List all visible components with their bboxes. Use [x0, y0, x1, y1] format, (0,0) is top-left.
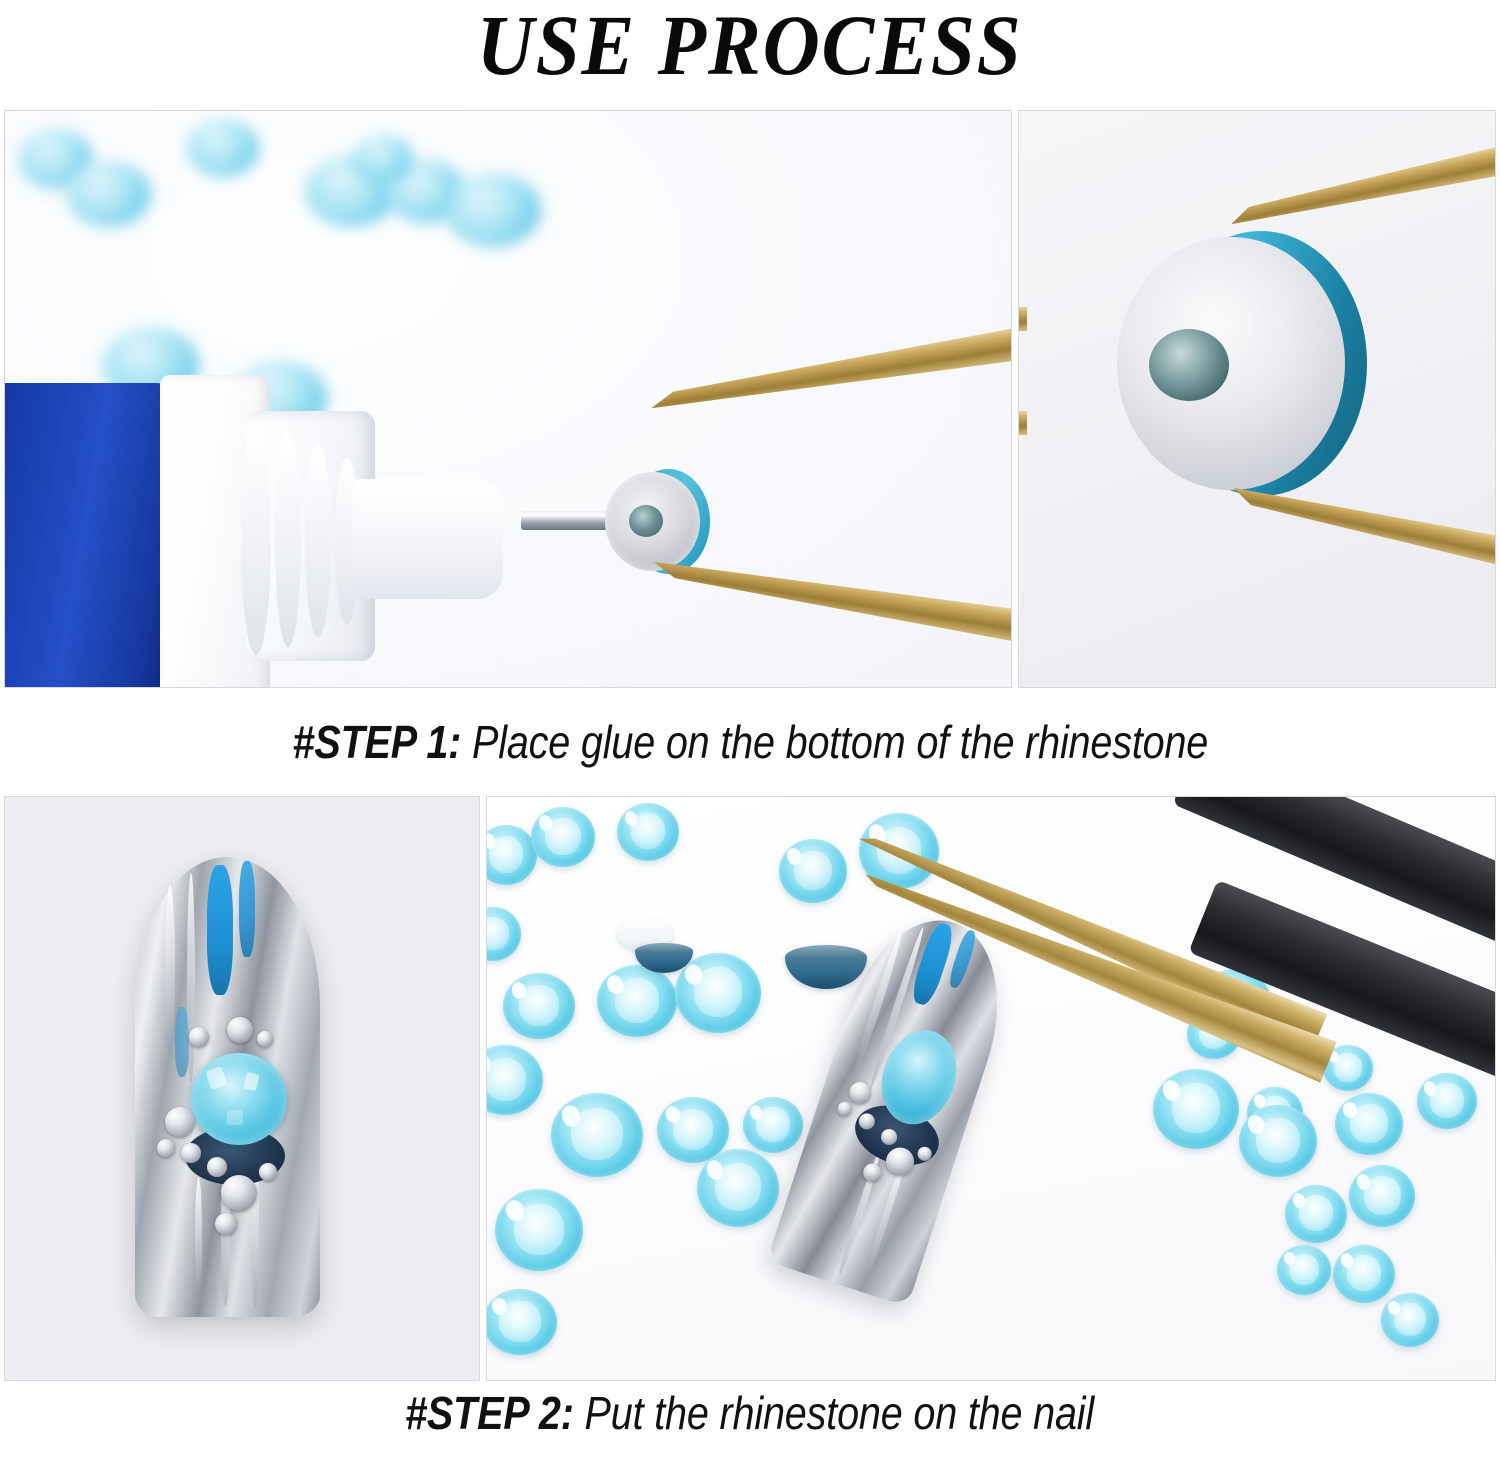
rhinestone [617, 803, 679, 861]
silver-bead [227, 1017, 253, 1043]
rhinestone [495, 1189, 583, 1271]
step-2-caption: #STEP 2: Put the rhinestone on the nail [406, 1390, 1095, 1436]
glue-application-photo [4, 110, 1012, 688]
placing-rhinestone-photo [486, 796, 1496, 1381]
glue-tube [4, 383, 505, 688]
glue-tube-thread [305, 443, 331, 637]
gem-facet [205, 1065, 228, 1090]
rhinestone [486, 1045, 543, 1115]
step-2-caption-wrap: #STEP 2: Put the rhinestone on the nail [0, 1381, 1500, 1445]
rhinestone [1285, 1185, 1347, 1243]
rhinestone-in-tweezers [605, 469, 710, 574]
silver-bead [189, 1027, 209, 1047]
bokeh-rhinestone [67, 161, 151, 227]
step-1-text: Place glue on the bottom of the rhinesto… [461, 716, 1208, 768]
silver-bead [157, 1139, 175, 1157]
bokeh-rhinestone [353, 135, 413, 183]
rhinestone [503, 973, 575, 1039]
rhinestone [1277, 1245, 1331, 1295]
rhinestone [486, 1289, 557, 1355]
step-2-text: Put the rhinestone on the nail [574, 1387, 1094, 1439]
step-2-block: #STEP 2: Put the rhinestone on the nail [0, 796, 1500, 1445]
step-1-block: #STEP 1: Place glue on the bottom of the… [0, 110, 1500, 796]
gem-facet [227, 1110, 242, 1125]
nail-blue-streak [947, 928, 979, 989]
rhinestone [1239, 1105, 1317, 1177]
silver-bead [207, 1157, 227, 1177]
step-2-panel-row [0, 796, 1500, 1381]
step-1-label: #STEP 1: [292, 716, 461, 768]
rhinestone [1349, 1165, 1415, 1227]
silver-bead [181, 1143, 201, 1163]
bokeh-rhinestone [187, 119, 259, 177]
rhinestone [743, 1097, 803, 1153]
press-on-nail [135, 857, 320, 1317]
glue-tube-thread [241, 423, 271, 655]
rhinestone [697, 1149, 779, 1227]
rhinestone [597, 965, 677, 1037]
glue-tube-thread [275, 431, 301, 647]
rhinestone [1381, 1293, 1439, 1347]
title-bar: USE PROCESS [0, 0, 1500, 110]
bokeh-rhinestone [445, 173, 541, 247]
nail-center-rhinestone [191, 1053, 287, 1145]
finished-nail-photo [4, 796, 480, 1381]
silver-bead [215, 1213, 237, 1235]
nail-highlight-streak [187, 873, 195, 1083]
step-1-caption: #STEP 1: Place glue on the bottom of the… [292, 719, 1208, 765]
nail-blue-streak [207, 865, 233, 995]
rhinestone [486, 907, 521, 961]
step-1-caption-wrap: #STEP 1: Place glue on the bottom of the… [0, 688, 1500, 796]
rhinestone [1333, 1245, 1395, 1303]
gem-facet [243, 1072, 260, 1091]
tweezer-upper-arm [1227, 141, 1496, 233]
silver-bead [257, 1031, 273, 1047]
rhinestone [1153, 1069, 1239, 1149]
glue-drop [1149, 329, 1229, 401]
rhinestone [779, 839, 847, 903]
rhinestone [551, 1093, 643, 1177]
glue-tube-body [4, 383, 175, 688]
rhinestone-side-view [785, 945, 867, 989]
rhinestone [1335, 1093, 1403, 1155]
rhinestone [675, 953, 761, 1033]
silver-bead [221, 1175, 257, 1211]
rhinestone-back-macro-photo [1018, 110, 1496, 688]
tweezer-arm-left-edge [1018, 411, 1027, 435]
rhinestone [1417, 1073, 1477, 1129]
glue-tube-nozzle [353, 479, 503, 599]
nail-blue-streak [908, 920, 957, 1007]
nail-highlight-streak [195, 1177, 202, 1297]
glue-drop [629, 505, 663, 537]
rhinestone [486, 825, 537, 885]
silver-bead [861, 1161, 884, 1184]
page-title: USE PROCESS [477, 2, 1023, 88]
rhinestone [531, 807, 595, 867]
step-2-label: #STEP 2: [406, 1387, 575, 1439]
nail-blue-streak [239, 861, 255, 957]
rhinestone-macro [1117, 231, 1367, 496]
silver-bead [836, 1100, 854, 1118]
tweezer-arm-left-edge [1018, 307, 1027, 331]
step-1-panel-row [0, 110, 1500, 688]
silver-bead [165, 1107, 195, 1137]
nail-highlight-streak [165, 885, 175, 1055]
tweezer-upper-arm [648, 323, 1012, 419]
silver-bead [259, 1163, 277, 1181]
